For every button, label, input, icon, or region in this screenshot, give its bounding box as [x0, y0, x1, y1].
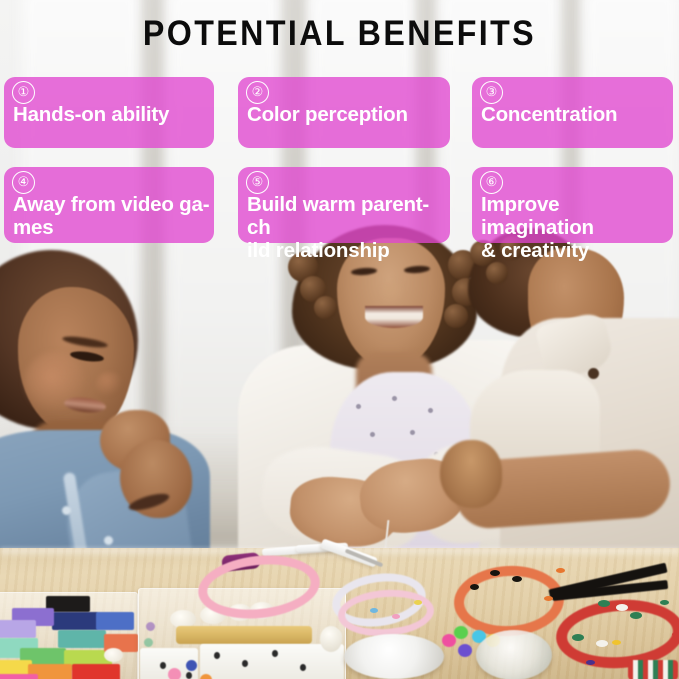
benefit-label-6: Improve imagination & creativity	[481, 193, 669, 262]
small-white-bead	[320, 626, 342, 652]
shirt-button	[588, 368, 599, 379]
benefit-badge-4[interactable]: ④ Away from video ga- mes	[4, 167, 214, 243]
benefit-label-2: Color perception	[247, 103, 446, 126]
mother-curl	[444, 304, 468, 328]
child-right-hand	[440, 440, 502, 508]
letter-beads-white	[200, 644, 344, 679]
letter-bead-mark	[272, 650, 278, 657]
clay-disc	[392, 614, 400, 619]
clay-disc	[544, 596, 553, 601]
child-right-curl	[486, 262, 508, 284]
white-bead-b	[596, 640, 608, 647]
green-bead	[598, 600, 610, 607]
page-title: POTENTIAL BENEFITS	[27, 14, 652, 54]
benefit-badge-6[interactable]: ⑥ Improve imagination & creativity	[472, 167, 673, 243]
colorful-bead	[454, 626, 468, 639]
benefit-label-5: Build warm parent-ch ild relationship	[247, 193, 446, 262]
black-bead	[490, 570, 500, 576]
clay-disc	[556, 568, 565, 573]
letter-bead-mark	[242, 660, 248, 667]
mother-smile	[365, 306, 423, 328]
benefit-badge-2[interactable]: ② Color perception	[238, 77, 450, 148]
striped-bracelet-strip	[628, 660, 678, 679]
bead-cell-navy	[52, 612, 98, 630]
clay-disc	[370, 608, 378, 613]
clay-disc	[414, 600, 422, 605]
clay-disc	[672, 632, 679, 637]
letter-bead-mark	[214, 652, 220, 659]
white-bead	[104, 648, 123, 662]
black-bead	[512, 576, 522, 582]
bead-cell-blue	[96, 612, 134, 630]
polka-dot	[370, 432, 375, 437]
benefit-number-6: ⑥	[480, 171, 503, 194]
child-left-nose	[96, 372, 122, 396]
child-left-curl	[60, 246, 94, 276]
bead-cell-pink	[0, 674, 38, 679]
letter-bead-mark	[300, 664, 306, 671]
benefit-number-5: ⑤	[246, 171, 269, 194]
benefit-label-4: Away from video ga- mes	[13, 193, 210, 239]
benefit-badge-1[interactable]: ① Hands-on ability	[4, 77, 214, 148]
bead-cell-lavender	[0, 620, 36, 638]
benefit-number-3: ③	[480, 81, 503, 104]
bead-cell-teal	[58, 630, 106, 648]
gold-bead-row	[176, 626, 312, 644]
mother-curl	[314, 296, 337, 319]
colored-bead	[200, 674, 212, 679]
letter-bead-mark	[186, 672, 192, 679]
jacket-button	[62, 506, 71, 515]
clay-disc	[586, 660, 595, 665]
polka-dot	[392, 396, 397, 401]
benefit-badge-5[interactable]: ⑤ Build warm parent-ch ild relationship	[238, 167, 450, 243]
green-bead	[572, 634, 584, 641]
polka-dot	[356, 404, 361, 409]
jacket-button	[104, 536, 113, 545]
elastic-string-spool-white	[344, 634, 444, 679]
benefit-number-4: ④	[12, 171, 35, 194]
elastic-string-spool-clear	[476, 630, 552, 679]
poster: POTENTIAL BENEFITS ① Hands-on ability ② …	[0, 0, 679, 679]
benefit-number-2: ②	[246, 81, 269, 104]
white-bead-b	[616, 604, 628, 611]
benefit-number-1: ①	[12, 81, 35, 104]
black-bead	[470, 584, 479, 590]
polka-dot	[428, 408, 433, 413]
colorful-bead	[458, 644, 472, 657]
colorful-bead	[442, 634, 456, 647]
clay-disc	[660, 600, 669, 605]
smiley-bead	[168, 668, 181, 679]
benefit-badge-3[interactable]: ③ Concentration	[472, 77, 673, 148]
benefit-label-3: Concentration	[481, 103, 669, 126]
bead-cell-red	[72, 664, 120, 679]
colored-bead	[186, 660, 197, 671]
letter-bead-mark	[160, 662, 166, 669]
green-bead	[630, 612, 642, 619]
mother-nose	[381, 280, 403, 306]
benefit-label-1: Hands-on ability	[13, 103, 210, 126]
polka-dot	[410, 430, 415, 435]
clay-disc	[612, 640, 621, 645]
